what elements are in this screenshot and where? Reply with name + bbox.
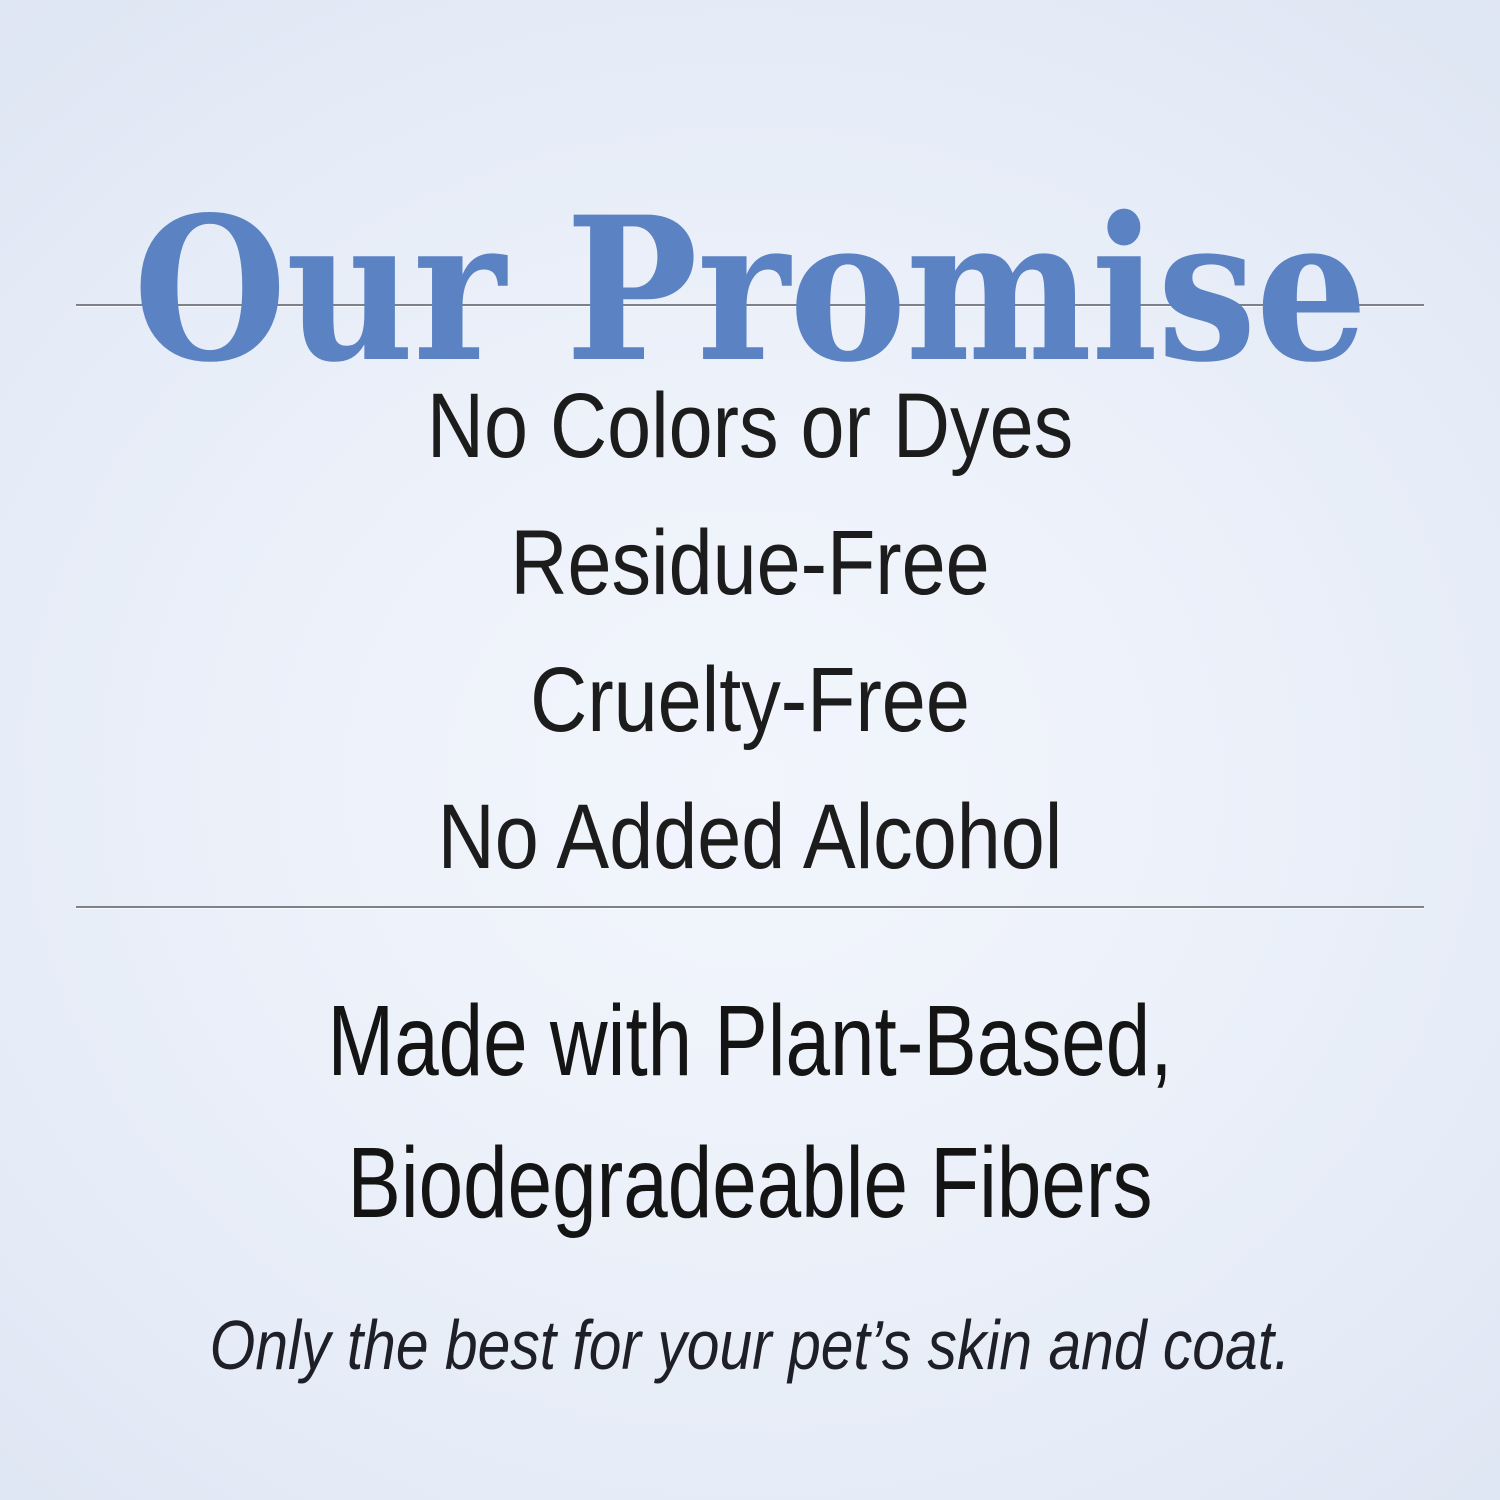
materials-statement: Made with Plant-Based, Biodegradeable Fi… xyxy=(0,908,1500,1254)
materials-statement-line-2: Biodegradeable Fibers xyxy=(150,1112,1350,1254)
our-promise-card: Our Promise No Colors or Dyes Residue-Fr… xyxy=(0,0,1500,1500)
claim-item-residue-free: Residue-Free xyxy=(105,495,1395,632)
materials-statement-line-1: Made with Plant-Based, xyxy=(150,970,1350,1112)
claim-item-no-added-alcohol: No Added Alcohol xyxy=(105,769,1395,906)
page-title-block: Our Promise xyxy=(0,58,1500,268)
claim-item-no-colors-or-dyes: No Colors or Dyes xyxy=(105,358,1395,495)
footer-tagline: Only the best for your pet’s skin and co… xyxy=(120,1254,1380,1380)
claim-item-cruelty-free: Cruelty-Free xyxy=(105,632,1395,769)
claims-list: No Colors or Dyes Residue-Free Cruelty-F… xyxy=(0,306,1500,906)
